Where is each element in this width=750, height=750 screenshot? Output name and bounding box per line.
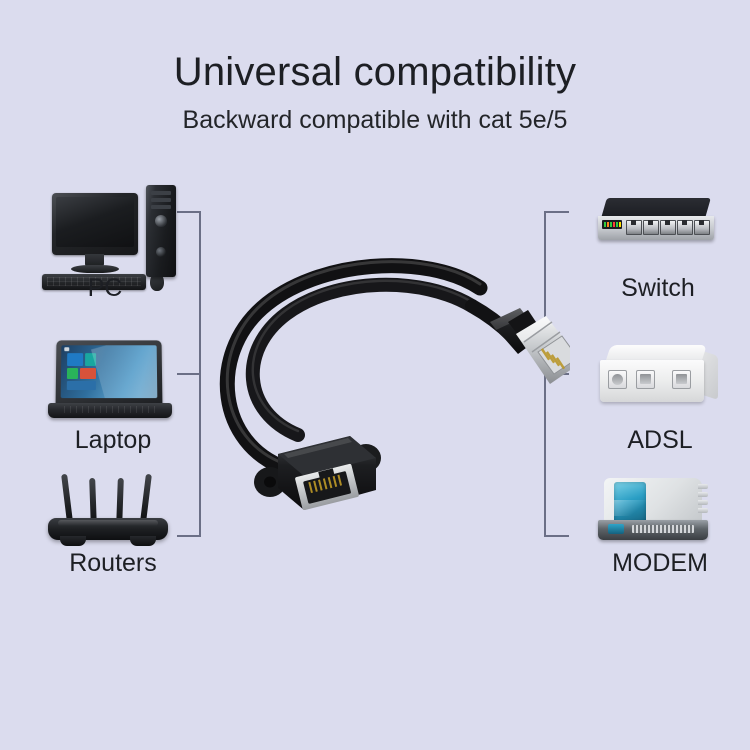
switch-led-strip <box>602 220 622 229</box>
modem-indicator <box>608 524 624 534</box>
laptop-base <box>48 403 172 418</box>
laptop-screen <box>61 345 158 398</box>
device-icon-routers <box>48 474 178 552</box>
switch-rj45-port <box>660 220 676 235</box>
laptop-lid <box>56 340 163 406</box>
modem-side-fins <box>698 484 708 520</box>
device-icon-modem <box>598 478 722 544</box>
switch-rj45-port <box>643 220 659 235</box>
device-icon-switch <box>598 198 718 244</box>
page-title: Universal compatibility <box>0 48 750 96</box>
switch-top-shell <box>601 198 711 218</box>
router-foot <box>130 536 156 546</box>
switch-rj45-port <box>694 220 710 235</box>
switch-front-face <box>598 216 714 240</box>
product-image-rj45-extension-cable <box>190 230 570 510</box>
device-label-routers: Routers <box>33 548 193 578</box>
device-icon-adsl <box>600 345 726 407</box>
router-foot <box>60 536 86 546</box>
device-label-switch: Switch <box>588 273 728 303</box>
device-label-pc: PC <box>45 273 165 303</box>
rj45-female-panel-jack <box>254 436 381 510</box>
switch-rj45-port <box>626 220 642 235</box>
monitor-icon <box>52 193 138 255</box>
modem-vent-grille <box>632 525 694 533</box>
infographic-canvas: Universal compatibility Backward compati… <box>0 0 750 750</box>
switch-rj45-port <box>677 220 693 235</box>
router-antenna <box>61 474 73 522</box>
monitor-screen <box>56 197 134 247</box>
router-antenna <box>140 474 152 522</box>
modem-base <box>598 520 708 540</box>
tower-case-icon <box>146 185 176 277</box>
device-label-adsl: ADSL <box>590 425 730 455</box>
device-label-laptop: Laptop <box>38 425 188 455</box>
modem-display-panel <box>614 482 646 524</box>
adsl-power-jack <box>608 370 627 389</box>
modem-top-shell <box>604 478 702 526</box>
rj45-male-plug <box>490 308 570 384</box>
monitor-stand-base <box>71 265 119 273</box>
device-label-modem: MODEM <box>580 548 740 578</box>
page-subtitle: Backward compatible with cat 5e/5 <box>0 104 750 136</box>
adsl-line-jack <box>636 370 655 389</box>
adsl-phone-jack <box>672 370 691 389</box>
device-icon-laptop <box>48 340 178 422</box>
adsl-front-face <box>600 360 704 402</box>
